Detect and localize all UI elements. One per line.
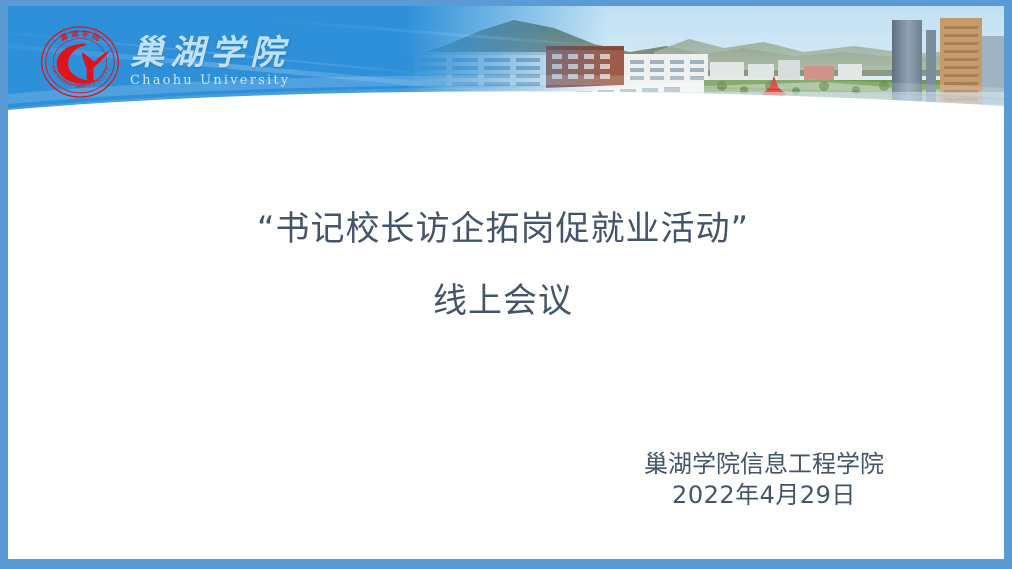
slide-title-block: “书记校长访企拓岗促就业活动” 线上会议 <box>8 212 1004 318</box>
chaohu-university-seal-icon: 巢 湖 学 院 CHAOHU UNIVERSITY 1977 <box>38 22 122 102</box>
slide-title-line-2: 线上会议 <box>2 284 1004 318</box>
slide-border-bottom <box>0 559 1012 569</box>
wordmark-chinese: 巢湖学院 <box>130 36 290 72</box>
presentation-date: 2022年4月29日 <box>644 480 884 511</box>
slide-title-line-1: “书记校长访企拓岗促就业活动” <box>2 212 1004 246</box>
university-logo-lockup: 巢 湖 学 院 CHAOHU UNIVERSITY 1977 巢湖学院 Chao… <box>38 22 290 102</box>
presentation-slide: 巢 湖 学 院 CHAOHU UNIVERSITY 1977 巢湖学院 Chao… <box>0 0 1012 569</box>
university-wordmark: 巢湖学院 Chaohu University <box>130 36 290 88</box>
slide-border-right <box>1004 0 1012 569</box>
slide-header-banner: 巢 湖 学 院 CHAOHU UNIVERSITY 1977 巢湖学院 Chao… <box>8 6 1004 124</box>
slide-body: “书记校长访企拓岗促就业活动” 线上会议 巢湖学院信息工程学院 2022年4月2… <box>8 124 1004 559</box>
slide-signature-block: 巢湖学院信息工程学院 2022年4月29日 <box>644 449 884 510</box>
organization-name: 巢湖学院信息工程学院 <box>644 449 884 480</box>
svg-text:1977: 1977 <box>75 84 86 89</box>
wordmark-english: Chaohu University <box>130 73 290 88</box>
